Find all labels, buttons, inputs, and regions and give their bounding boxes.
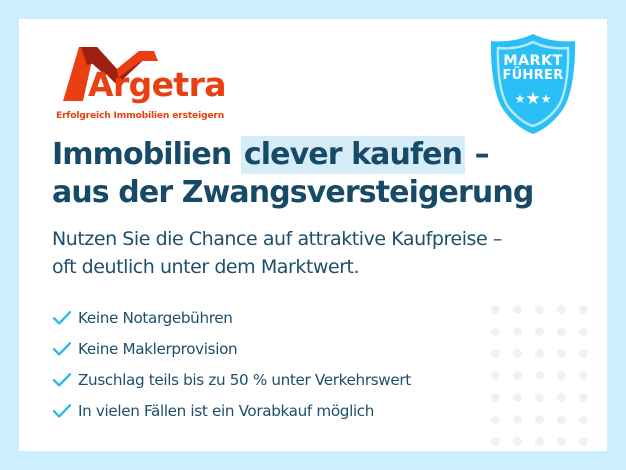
logo-wordmark: Argetra: [88, 68, 226, 101]
list-item: In vielen Fällen ist ein Vorabkauf mögli…: [52, 395, 512, 426]
grid-dot: [513, 437, 522, 446]
check-icon: [52, 372, 78, 388]
check-icon: [52, 341, 78, 357]
badge-text: MARKT FÜHRER: [485, 54, 581, 82]
grid-dot: [491, 437, 500, 446]
grid-dot: [513, 371, 522, 380]
grid-dot: [535, 327, 544, 336]
grid-dot: [579, 393, 588, 402]
check-icon: [52, 310, 78, 326]
grid-dot: [557, 327, 566, 336]
market-leader-badge: MARKT FÜHRER ★★★: [485, 32, 581, 136]
grid-dot: [557, 393, 566, 402]
check-icon: [52, 403, 78, 419]
benefits-list: Keine NotargebührenKeine Maklerprovision…: [52, 302, 512, 426]
grid-dot: [579, 305, 588, 314]
headline-highlight: clever kaufen: [241, 136, 465, 174]
grid-dot: [557, 349, 566, 358]
list-item: Zuschlag teils bis zu 50 % unter Verkehr…: [52, 364, 512, 395]
grid-dot: [557, 305, 566, 314]
list-item: Keine Maklerprovision: [52, 333, 512, 364]
badge-star-icon: ★: [515, 92, 526, 106]
badge-star-icon: ★: [525, 89, 540, 108]
grid-dot: [535, 437, 544, 446]
grid-dot: [579, 371, 588, 380]
grid-dot: [579, 437, 588, 446]
subheading-line1: Nutzen Sie die Chance auf attraktive Kau…: [52, 228, 502, 250]
grid-dot: [557, 371, 566, 380]
grid-dot: [535, 415, 544, 424]
headline-line1-after: –: [465, 137, 489, 172]
grid-dot: [535, 393, 544, 402]
grid-dot: [557, 415, 566, 424]
badge-line-1: MARKT: [485, 54, 581, 69]
grid-dot: [579, 415, 588, 424]
grid-dot: [513, 305, 522, 314]
grid-dot: [535, 305, 544, 314]
list-item-label: Keine Maklerprovision: [78, 340, 237, 358]
list-item-label: Keine Notargebühren: [78, 309, 233, 327]
headline-line1-before: Immobilien: [52, 137, 241, 172]
list-item: Keine Notargebühren: [52, 302, 512, 333]
grid-dot: [513, 415, 522, 424]
list-item-label: In vielen Fällen ist ein Vorabkauf mögli…: [78, 402, 374, 420]
grid-dot: [579, 327, 588, 336]
promo-banner: Argetra Erfolgreich Immobilien ersteiger…: [0, 0, 626, 470]
badge-stars: ★★★: [485, 90, 581, 107]
grid-dot: [579, 349, 588, 358]
grid-dot: [535, 349, 544, 358]
headline-line2: aus der Zwangsversteigerung: [52, 175, 533, 210]
grid-dot: [513, 393, 522, 402]
page-title: Immobilien clever kaufen – aus der Zwang…: [52, 136, 572, 212]
subheading-line2: oft deutlich unter dem Marktwert.: [52, 256, 359, 278]
logo-tagline: Erfolgreich Immobilien ersteigern: [56, 110, 224, 121]
grid-dot: [535, 371, 544, 380]
list-item-label: Zuschlag teils bis zu 50 % unter Verkehr…: [78, 371, 411, 389]
grid-dot: [513, 327, 522, 336]
badge-line-2: FÜHRER: [485, 69, 581, 82]
grid-dot: [513, 349, 522, 358]
banner-content-area: Argetra Erfolgreich Immobilien ersteiger…: [19, 19, 607, 451]
argetra-logo[interactable]: Argetra Erfolgreich Immobilien ersteiger…: [55, 45, 255, 129]
shield-badge-icon: [485, 32, 581, 136]
subheading: Nutzen Sie die Chance auf attraktive Kau…: [52, 226, 552, 281]
badge-star-icon: ★: [541, 92, 552, 106]
grid-dot: [557, 437, 566, 446]
